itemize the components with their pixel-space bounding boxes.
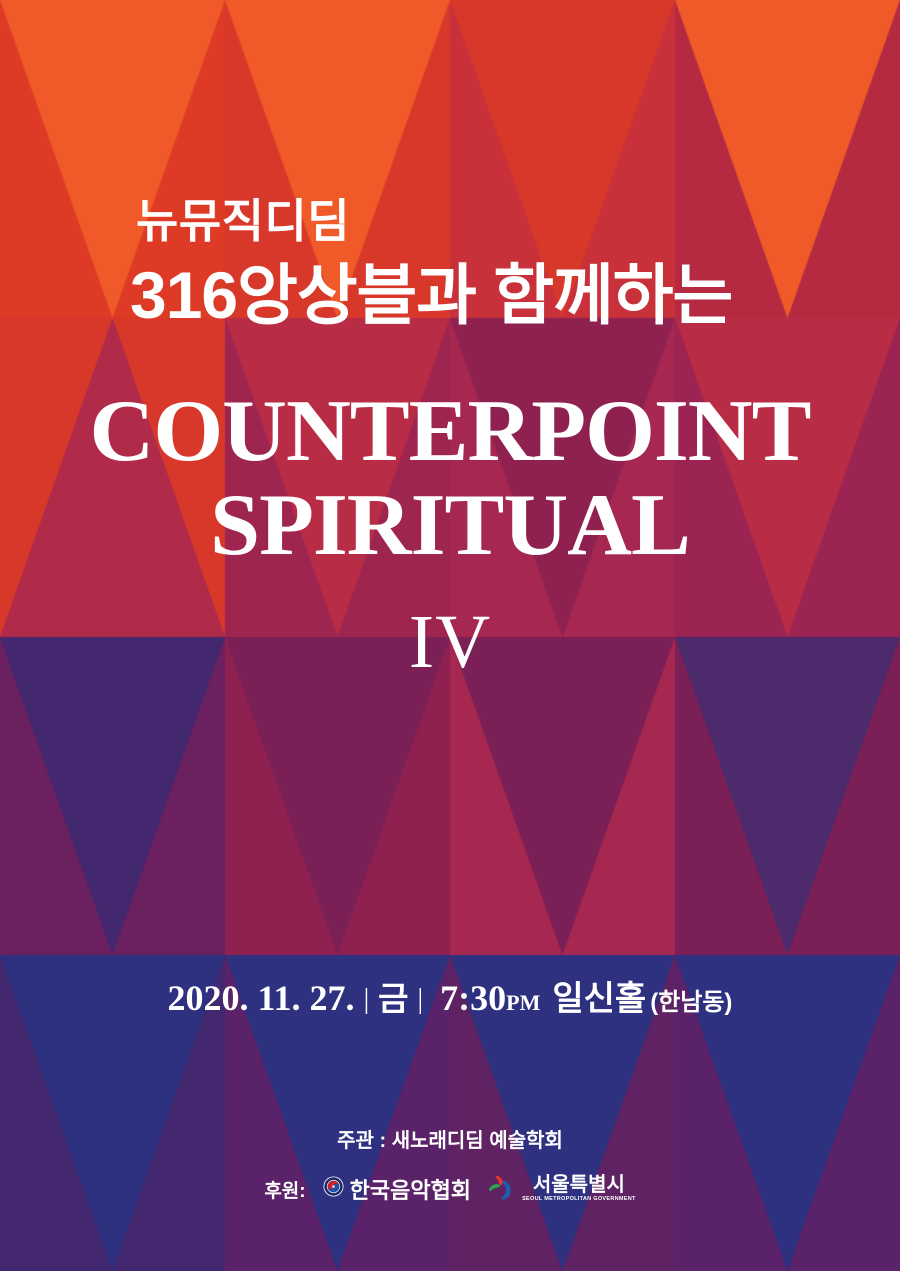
sponsor-2-block: 서울특별시 SEOUL METROPOLITAN GOVERNMENT bbox=[518, 1175, 636, 1203]
schedule-date: 2020. 11. 27. bbox=[168, 980, 355, 1016]
schedule-ampm: PM bbox=[506, 992, 540, 1014]
sponsor-1-name: 한국음악협회 bbox=[346, 1173, 471, 1205]
poster-title-line-2: SPIRITUAL bbox=[0, 482, 900, 570]
schedule-separator-left: | bbox=[355, 986, 379, 1014]
schedule-venue: 일신홀 bbox=[540, 982, 646, 1016]
poster-subtitle-korean: 316앙상블과 함께하는 bbox=[0, 262, 732, 328]
sponsor-label: 후원: bbox=[264, 1176, 312, 1203]
schedule-separator-right: | bbox=[409, 986, 433, 1014]
poster-content-layer: 뉴뮤직디딤 316앙상블과 함께하는 COUNTERPOINT SPIRITUA… bbox=[0, 0, 900, 1271]
poster-root: 뉴뮤직디딤 316앙상블과 함께하는 COUNTERPOINT SPIRITUA… bbox=[0, 0, 900, 1271]
sponsor-2-subtitle: SEOUL METROPOLITAN GOVERNMENT bbox=[522, 1197, 636, 1203]
poster-kicker: 뉴뮤직디딤 bbox=[0, 198, 350, 244]
seoul-metropolitan-government-logo-icon bbox=[487, 1174, 517, 1205]
credits-host-line: 주관 : 새노래디딤 예술학회 bbox=[0, 1131, 900, 1151]
sponsor-2-name: 서울특별시 bbox=[533, 1175, 625, 1196]
schedule-time: 7:30 bbox=[432, 980, 506, 1016]
poster-edition-numeral: IV bbox=[0, 604, 900, 680]
schedule-venue-district: (한남동) bbox=[646, 991, 732, 1015]
schedule-bar: 2020. 11. 27. | 금 | 7:30 PM 일신홀 (한남동) bbox=[0, 980, 900, 1016]
poster-title-line-1: COUNTERPOINT bbox=[0, 388, 900, 476]
schedule-day-of-week: 금 bbox=[378, 982, 408, 1015]
credits-sponsor-row: 후원: 한국음악협회 bbox=[0, 1173, 900, 1205]
korea-music-association-emblem-icon bbox=[323, 1176, 344, 1202]
